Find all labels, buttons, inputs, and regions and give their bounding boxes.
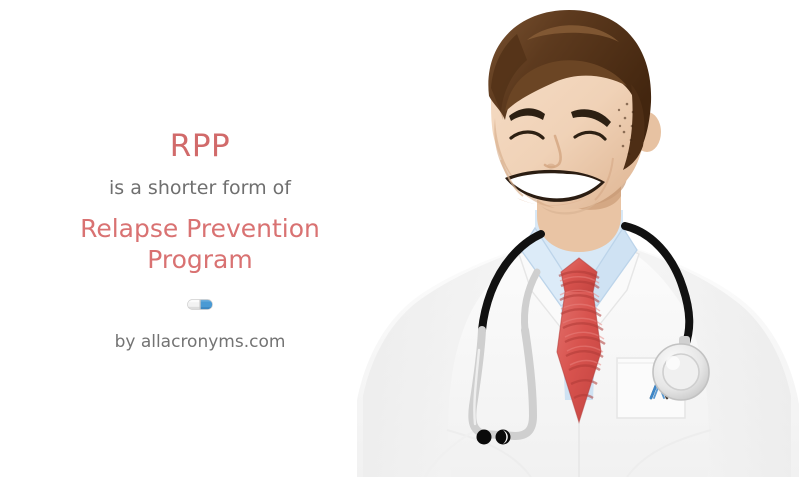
relation-label: is a shorter form of (109, 176, 291, 200)
doctor-artwork (355, 0, 801, 477)
acronym-expansion: Relapse Prevention Program (50, 213, 350, 275)
acronym-title: RPP (170, 127, 230, 165)
divider-ornament (187, 297, 213, 311)
site-credit: by allacronyms.com (115, 331, 286, 353)
definition-text-panel: RPP is a shorter form of Relapse Prevent… (0, 0, 400, 477)
pill-capsule-icon (187, 299, 213, 310)
acronym-definition-card: RPP is a shorter form of Relapse Prevent… (0, 0, 801, 477)
smiling-doctor-illustration (355, 0, 801, 477)
face (488, 10, 661, 215)
